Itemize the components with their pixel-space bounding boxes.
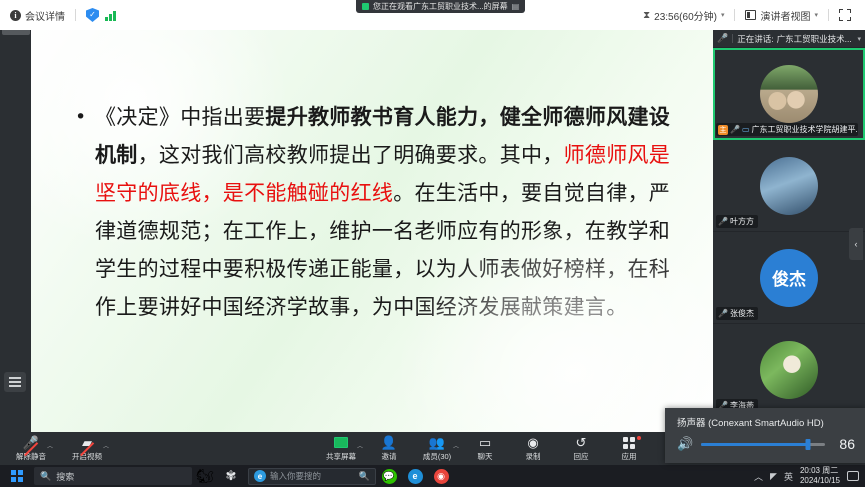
toolbar-item-label: 录制 — [526, 451, 541, 462]
squirrel-game-icon[interactable]: 🐿 — [192, 465, 218, 487]
chevron-left-icon: ‹ — [855, 239, 858, 249]
slide-paragraph: 《决定》中指出要提升教师教书育人能力，健全师德师风建设机制，这对我们高校教师提出… — [95, 98, 670, 326]
screen-share-notice-label: 您正在观看广东工贸职业技术...的屏幕 — [373, 1, 508, 12]
start-button[interactable] — [0, 465, 34, 487]
divider — [75, 9, 76, 21]
chat-bubble-icon: ▭ — [479, 435, 491, 450]
avatar — [760, 65, 818, 123]
system-tray: ︿ ◤ 英 20:03 周二 2024/10/15 — [754, 466, 865, 486]
toolbar-item-label: 邀请 — [382, 451, 397, 462]
screen-share-notice[interactable]: 您正在观看广东工贸职业技术...的屏幕 ▤ — [356, 0, 525, 13]
video-muted-icon: ▰ — [82, 435, 92, 450]
volume-knob[interactable] — [805, 439, 810, 450]
mic-muted-icon: 🎤 — [718, 217, 728, 226]
slide-text-segment: 。在生活中，要自觉自律，严 — [393, 181, 670, 205]
rail-handle[interactable] — [2, 30, 30, 35]
participant-tile[interactable]: 主🎤▭广东工贸职业技术学院胡建平... — [713, 48, 865, 140]
signal-bars-icon[interactable] — [105, 10, 116, 21]
edge-icon[interactable]: e — [402, 465, 428, 487]
record-icon: ◉ — [527, 435, 538, 450]
slide-text-segment: 学生的过程中要积极传递正能量，以为人师表做好榜样，在科 — [95, 257, 670, 281]
ime-language-indicator[interactable]: 英 — [784, 470, 793, 483]
volume-overlay: 扬声器 (Conexant SmartAudio HD) 🔊 86 — [665, 408, 865, 463]
slide-text-segment: 机制 — [95, 143, 138, 167]
participant-nametag: 🎤叶方方 — [716, 215, 758, 228]
toolbar-item-label: 成员(30) — [423, 451, 451, 462]
mic-muted-icon: 🎤 — [718, 309, 728, 318]
meeting-info-button[interactable]: i 会议详情 — [10, 8, 65, 23]
apps-grid-icon — [623, 435, 635, 450]
volume-slider-row: 🔊 86 — [665, 429, 865, 452]
slide-text-block: • 《决定》中指出要提升教师教书育人能力，健全师德师风建设机制，这对我们高校教师… — [71, 98, 713, 326]
clock-time: 20:03 周二 — [800, 466, 840, 476]
participant-name: 叶方方 — [730, 216, 754, 227]
wifi-icon[interactable]: ◤ — [770, 471, 777, 482]
toolbar-item-label: 解除静音 — [16, 451, 46, 462]
fullscreen-icon — [839, 9, 851, 21]
chevron-down-icon[interactable]: ▾ — [857, 35, 861, 43]
volume-slider[interactable] — [701, 443, 825, 446]
slide-line: 机制，这对我们高校教师提出了明确要求。其中，师德师风是 — [95, 136, 670, 174]
reaction-icon: ↺ — [576, 435, 587, 450]
collapse-notice-icon[interactable]: ▤ — [512, 2, 520, 11]
divider — [732, 34, 733, 43]
avatar-initials: 俊杰 — [760, 249, 818, 307]
participant-tile[interactable]: 🎤李海燕 — [713, 324, 865, 416]
fan-app-icon[interactable]: ✾ — [218, 465, 244, 487]
toolbar-item-label: 聊天 — [478, 451, 493, 462]
toolbar-left-group: 🎤解除静音︿▰开启视频︿ — [0, 432, 110, 465]
view-mode-label: 演讲者视图 — [760, 8, 810, 23]
toolbar-record[interactable]: ◉录制 — [510, 432, 556, 465]
host-badge: 主 — [718, 125, 728, 135]
taskbar-search-placeholder: 搜索 — [56, 470, 74, 483]
bullet-marker: • — [71, 98, 95, 326]
chevron-up-icon[interactable]: ︿ — [453, 441, 459, 450]
toolbar-apps-grid[interactable]: 应用 — [606, 432, 652, 465]
video-icon: ▭ — [742, 125, 750, 134]
panel-collapse-button[interactable]: ‹ — [849, 228, 863, 260]
slide-line: 律道德规范；在工作上，维护一名老师应有的形象，在教学和 — [95, 212, 670, 250]
meeting-timer[interactable]: ⧗ 23:56(60分钟) ▾ — [637, 8, 730, 23]
divider — [828, 9, 829, 21]
chevron-down-icon: ▾ — [721, 11, 725, 19]
screen-share-icon — [334, 435, 348, 450]
slide-line: 作上要讲好中国经济学故事，为中国经济发展献策建言。 — [95, 288, 670, 326]
magnifier-icon[interactable]: 🔍 — [359, 471, 370, 482]
toolbar-reaction[interactable]: ↺回应 — [558, 432, 604, 465]
slide-line: 学生的过程中要积极传递正能量，以为人师表做好榜样，在科 — [95, 250, 670, 288]
clock-date: 2024/10/15 — [800, 476, 840, 486]
mic-muted-icon: 🎤 — [717, 33, 728, 44]
slide-text-segment: 律道德规范；在工作上，维护一名老师应有的形象，在教学和 — [95, 219, 670, 243]
top-bar-left: i 会议详情 — [0, 8, 116, 23]
slide-line: 坚守的底线，是不能触碰的红线。在生活中，要自觉自律，严 — [95, 174, 670, 212]
sogou-e-icon: e — [254, 470, 266, 482]
volume-value: 86 — [833, 436, 855, 452]
toolbar-center-group: 共享屏幕︿👤邀请👥成员(30)︿▭聊天◉录制↺回应应用⚙设置 — [318, 432, 700, 465]
toolbar-item-label: 回应 — [574, 451, 589, 462]
slide-text-segment: 作上要讲好中国经济学故事，为中国经济发展献策建言。 — [95, 295, 628, 319]
left-rail — [0, 30, 31, 432]
toolbar-invite-person[interactable]: 👤邀请 — [366, 432, 412, 465]
toolbar-screen-share[interactable]: 共享屏幕︿ — [318, 432, 364, 465]
slide-bullet-row: • 《决定》中指出要提升教师教书育人能力，健全师德师风建设机制，这对我们高校教师… — [71, 98, 713, 326]
toolbar-video-muted[interactable]: ▰开启视频︿ — [64, 432, 110, 465]
info-icon: i — [10, 10, 21, 21]
active-speaker-prefix: 正在讲话: — [737, 33, 773, 45]
participant-panel: 🎤 正在讲话: 广东工贸职业技术... ▾ 主🎤▭广东工贸职业技术学院胡建平..… — [713, 30, 865, 432]
fullscreen-button[interactable] — [833, 9, 857, 21]
participant-name: 广东工贸职业技术学院胡建平... — [752, 124, 858, 135]
mic-icon: 🎤 — [730, 125, 740, 134]
chevron-down-icon: ▾ — [814, 11, 818, 19]
windows-taskbar: 🔍 搜索 🐿 ✾ e 输入你要搜的 🔍 💬 e ◉ ︿ ◤ 英 20:03 周二… — [0, 465, 865, 487]
participant-nametag: 主🎤▭广东工贸职业技术学院胡建平... — [716, 123, 858, 136]
divider — [734, 9, 735, 21]
chevron-up-icon[interactable]: ︿ — [754, 470, 763, 483]
participant-name: 张俊杰 — [730, 308, 754, 319]
participant-nametag: 🎤张俊杰 — [716, 307, 758, 320]
active-speaker-bar: 🎤 正在讲话: 广东工贸职业技术... ▾ — [713, 30, 865, 48]
ime-search-placeholder: 输入你要搜的 — [270, 470, 321, 482]
top-bar-right: ⧗ 23:56(60分钟) ▾ 演讲者视图 ▾ — [637, 8, 865, 23]
meeting-window: i 会议详情 ⧗ 23:56(60分钟) ▾ 演讲者视图 ▾ — [0, 0, 865, 487]
chevron-up-icon[interactable]: ︿ — [47, 441, 53, 450]
taskbar-search-input[interactable]: 🔍 搜索 — [34, 467, 192, 485]
avatar — [760, 341, 818, 399]
chevron-up-icon[interactable]: ︿ — [103, 441, 109, 450]
chevron-up-icon[interactable]: ︿ — [357, 441, 363, 450]
chrome-icon[interactable]: ◉ — [428, 465, 454, 487]
shared-slide-area: • 《决定》中指出要提升教师教书育人能力，健全师德师风建设机制，这对我们高校教师… — [31, 30, 713, 432]
speaker-icon[interactable]: 🔊 — [677, 436, 693, 452]
invite-person-icon: 👤 — [381, 435, 397, 450]
taskbar-clock[interactable]: 20:03 周二 2024/10/15 — [800, 466, 840, 486]
avatar — [760, 157, 818, 215]
slide-line: 《决定》中指出要提升教师教书育人能力，健全师德师风建设 — [95, 98, 670, 136]
slide-text-segment: 师德师风是 — [564, 143, 671, 167]
volume-fill — [701, 443, 807, 446]
toolbar-participants[interactable]: 👥成员(30)︿ — [414, 432, 460, 465]
shield-check-icon[interactable] — [86, 8, 99, 22]
windows-logo-icon — [11, 470, 23, 482]
slide-text-segment: 《决定》中指出要 — [95, 105, 265, 129]
active-speaker-name: 广东工贸职业技术... — [777, 33, 852, 45]
slide-text-segment: ，这对我们高校教师提出了明确要求。其中， — [138, 143, 564, 167]
view-mode-button[interactable]: 演讲者视图 ▾ — [739, 8, 824, 23]
toolbar-item-label: 开启视频 — [72, 451, 102, 462]
slide-text-segment: 提升教师教书育人能力，健全师德师风建设 — [265, 105, 670, 129]
mic-muted-icon: 🎤 — [23, 435, 39, 450]
toolbar-mic-muted[interactable]: 🎤解除静音︿ — [8, 432, 54, 465]
toolbar-item-label: 应用 — [622, 451, 637, 462]
hourglass-icon: ⧗ — [643, 10, 650, 21]
notification-dot — [637, 436, 641, 440]
toolbar-item-label: 共享屏幕 — [326, 451, 356, 462]
participants-icon: 👥 — [429, 435, 445, 450]
magnifier-icon: 🔍 — [40, 471, 51, 482]
meeting-timer-label: 23:56(60分钟) — [654, 8, 717, 23]
volume-device-label: 扬声器 (Conexant SmartAudio HD) — [665, 408, 865, 429]
ime-search-input[interactable]: e 输入你要搜的 🔍 — [248, 468, 376, 485]
list-panel-icon[interactable] — [4, 372, 26, 392]
slide-text-segment: 坚守的底线，是不能触碰的红线 — [95, 181, 393, 205]
toolbar-chat-bubble[interactable]: ▭聊天 — [462, 432, 508, 465]
meeting-info-label: 会议详情 — [25, 8, 65, 23]
screen-share-icon — [362, 3, 369, 10]
participant-tile[interactable]: 🎤叶方方 — [713, 140, 865, 232]
participant-tile[interactable]: 俊杰🎤张俊杰 — [713, 232, 865, 324]
wechat-icon[interactable]: 💬 — [376, 465, 402, 487]
layout-icon — [745, 10, 756, 20]
notification-icon[interactable] — [847, 471, 859, 481]
